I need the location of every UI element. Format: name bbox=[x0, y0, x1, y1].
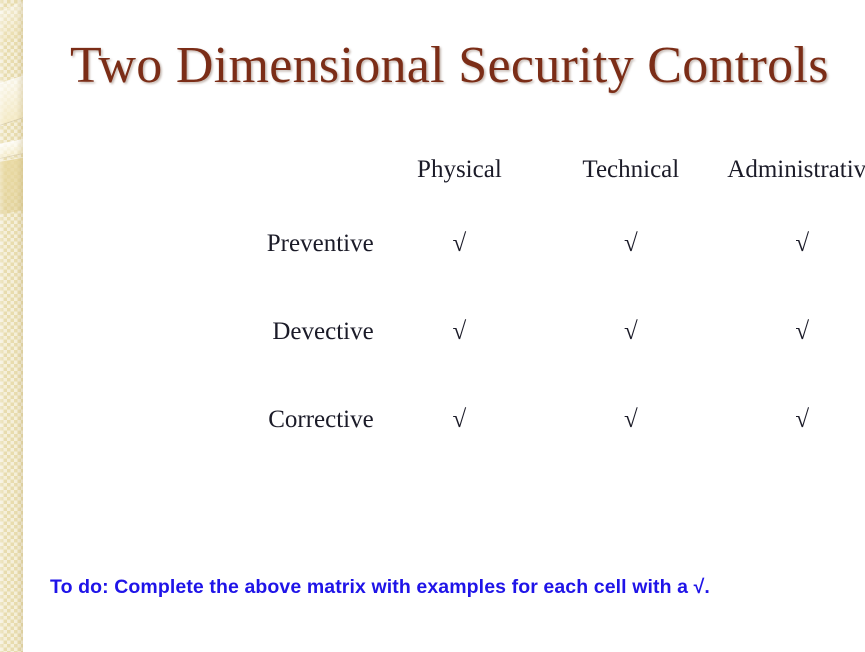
matrix-header-row: Physical Technical Administrative bbox=[128, 140, 865, 200]
row-label-preventive: Preventive bbox=[128, 200, 374, 288]
todo-instruction-text: To do: Complete the above matrix with ex… bbox=[50, 576, 710, 599]
matrix-table: Physical Technical Administrative Preven… bbox=[128, 140, 865, 464]
cell-corrective-physical: √ bbox=[374, 376, 545, 464]
row-label-devective: Devective bbox=[128, 288, 374, 376]
cell-preventive-physical: √ bbox=[374, 200, 545, 288]
security-controls-matrix: Physical Technical Administrative Preven… bbox=[23, 140, 865, 464]
cell-devective-technical: √ bbox=[545, 288, 716, 376]
border-swoosh-upper-icon bbox=[0, 64, 23, 134]
cell-devective-physical: √ bbox=[374, 288, 545, 376]
cell-preventive-technical: √ bbox=[545, 200, 716, 288]
row-label-corrective: Corrective bbox=[128, 376, 374, 464]
cell-corrective-technical: √ bbox=[545, 376, 716, 464]
border-swoosh-top-icon bbox=[0, 0, 23, 57]
slide-canvas: Two Dimensional Security Controls Physic… bbox=[0, 0, 865, 652]
table-row: Devective √ √ √ bbox=[128, 288, 865, 376]
slide-title: Two Dimensional Security Controls bbox=[70, 36, 830, 96]
cell-devective-administrative: √ bbox=[717, 288, 865, 376]
table-row: Preventive √ √ √ bbox=[128, 200, 865, 288]
column-header-technical: Technical bbox=[545, 140, 716, 200]
border-swoosh-mid-icon bbox=[0, 130, 23, 165]
matrix-corner-cell bbox=[128, 140, 374, 200]
table-row: Corrective √ √ √ bbox=[128, 376, 865, 464]
column-header-administrative: Administrative bbox=[717, 140, 865, 200]
column-header-physical: Physical bbox=[374, 140, 545, 200]
decorative-left-border bbox=[0, 0, 23, 652]
cell-corrective-administrative: √ bbox=[717, 376, 865, 464]
cell-preventive-administrative: √ bbox=[717, 200, 865, 288]
border-swoosh-lower-icon bbox=[0, 150, 23, 220]
